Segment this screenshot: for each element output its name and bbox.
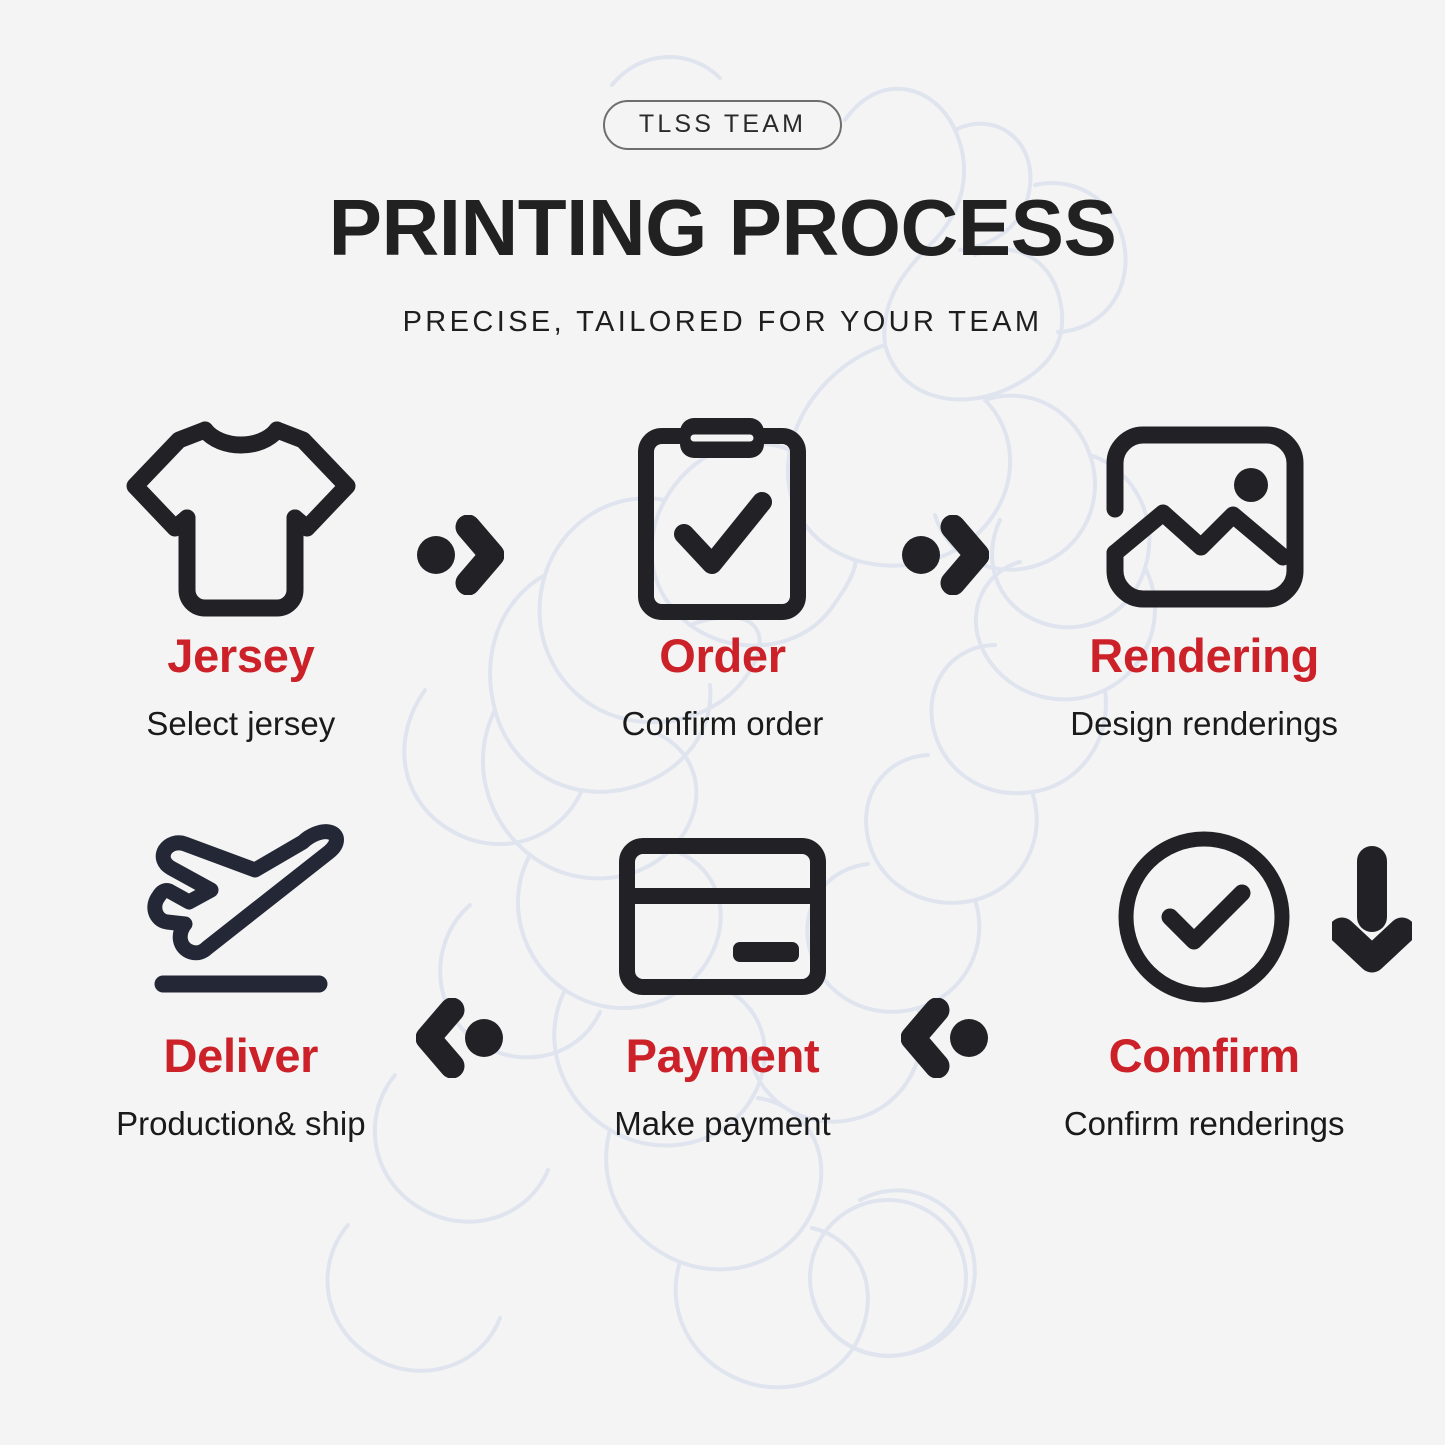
airplane-takeoff-icon (133, 809, 348, 1024)
tshirt-icon (121, 409, 361, 624)
step-title: Order (659, 632, 786, 679)
team-badge: TLSS TEAM (603, 100, 842, 150)
arrow-right-jersey-to-order (416, 515, 504, 600)
step-title: Payment (626, 1032, 820, 1079)
credit-card-icon (615, 809, 830, 1024)
step-description: Make payment (614, 1107, 830, 1140)
step-description: Production& ship (116, 1107, 365, 1140)
clipboard-check-icon (622, 409, 822, 624)
arrow-left-payment-to-deliver (416, 998, 504, 1083)
step-deliver: Deliver Production& ship (0, 809, 482, 1209)
header: TLSS TEAM PRINTING PROCESS PRECISE, TAIL… (0, 0, 1445, 337)
arrow-right-order-to-rendering (901, 515, 989, 600)
step-title: Jersey (167, 632, 314, 679)
infographic-canvas: TLSS TEAM PRINTING PROCESS PRECISE, TAIL… (0, 0, 1445, 1445)
step-rendering: Rendering Design renderings (963, 409, 1445, 809)
step-description: Confirm order (622, 707, 824, 740)
process-steps-grid: Jersey Select jersey Order Confirm order (0, 409, 1445, 1209)
step-description: Design renderings (1070, 707, 1338, 740)
step-title: Comfirm (1109, 1032, 1300, 1079)
check-circle-icon (1114, 809, 1294, 1024)
step-payment: Payment Make payment (482, 809, 964, 1209)
page-title: PRINTING PROCESS (0, 188, 1445, 268)
image-icon (1097, 409, 1312, 624)
arrow-down-rendering-to-comfirm (1332, 845, 1412, 980)
step-title: Rendering (1089, 632, 1319, 679)
step-description: Select jersey (146, 707, 335, 740)
step-order: Order Confirm order (482, 409, 964, 809)
page-subtitle: PRECISE, TAILORED FOR YOUR TEAM (0, 308, 1445, 337)
arrow-left-comfirm-to-payment (901, 998, 989, 1083)
step-title: Deliver (163, 1032, 318, 1079)
step-description: Confirm renderings (1064, 1107, 1345, 1140)
step-jersey: Jersey Select jersey (0, 409, 482, 809)
